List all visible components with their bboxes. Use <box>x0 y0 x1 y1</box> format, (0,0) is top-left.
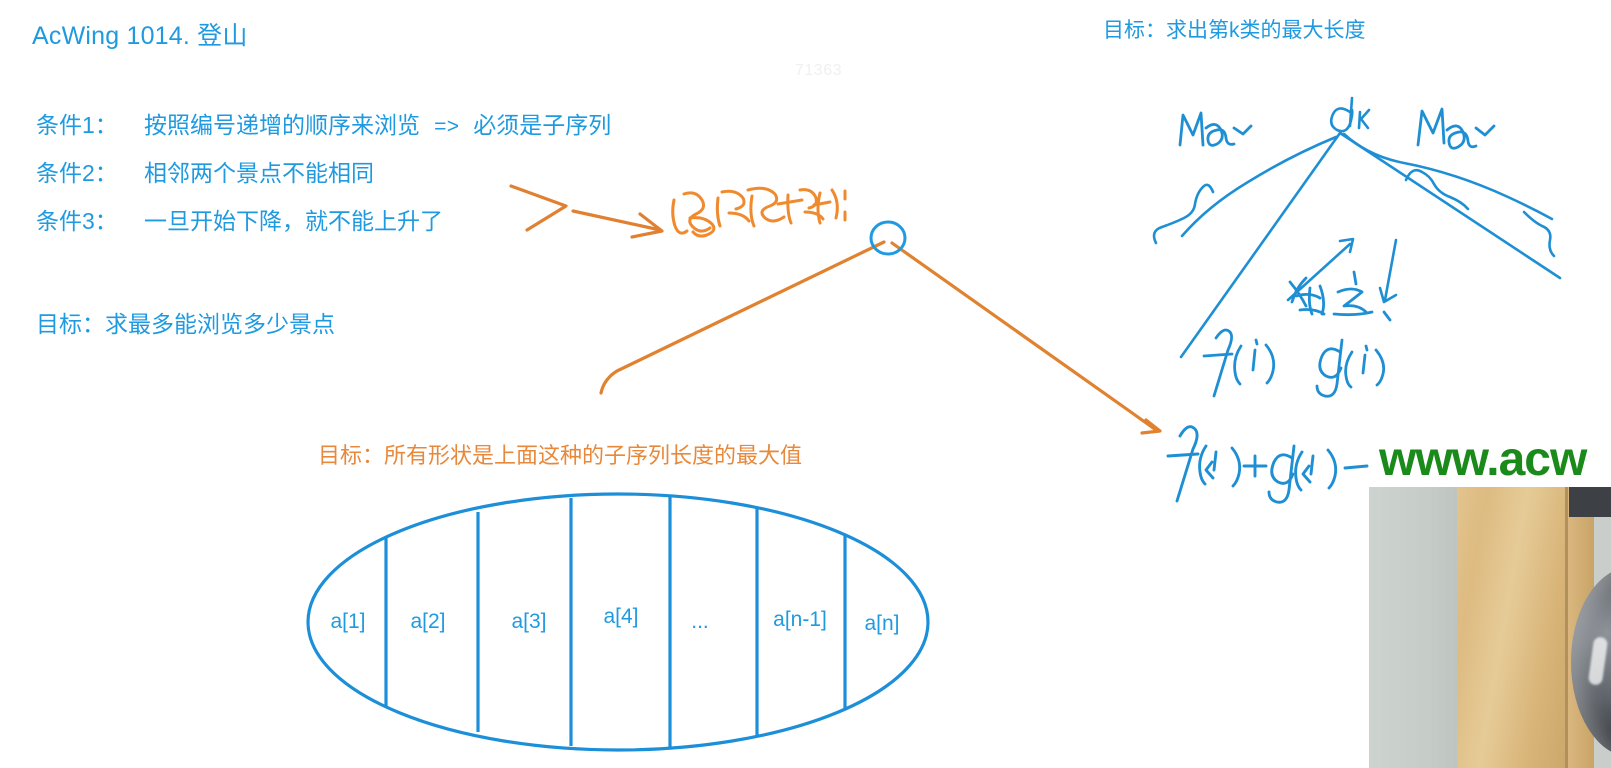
formula-handwriting <box>1168 427 1367 503</box>
downward-arrows <box>1288 239 1396 302</box>
goal-orange-label: 目标：所有形状是上面这种的子序列长度的最大值 <box>318 438 802 470</box>
condition-row-3: 条件3： 一旦开始下降，就不能上升了 <box>36 202 796 236</box>
goal-top-right-label: 目标：求出第k类的最大长度 <box>1103 14 1366 44</box>
array-cell-label: a[n] <box>864 612 899 636</box>
max-left-handwriting <box>1180 113 1251 145</box>
max-right-handwriting <box>1418 109 1494 148</box>
condition-consequence: 必须是子序列 <box>473 106 611 140</box>
array-cell-label: a[2] <box>410 610 445 634</box>
array-cell-ellipsis: ... <box>691 610 709 634</box>
array-cell-label: a[3] <box>511 610 546 634</box>
webcam-dark-region <box>1569 487 1611 517</box>
goal-main-label: 目标：求最多能浏览多少景点 <box>36 305 335 339</box>
array-cell-label: a[4] <box>603 605 638 629</box>
condition-text: 相邻两个景点不能相同 <box>144 154 374 188</box>
condition-label: 条件1： <box>36 106 144 140</box>
peak-circle-marker <box>871 222 905 254</box>
conditions-list: 条件1： 按照编号递增的顺序来浏览 => 必须是子序列 条件2： 相邻两个景点不… <box>36 106 796 250</box>
array-cell-label: a[1] <box>330 610 365 634</box>
webcam-wall-background <box>1369 487 1465 768</box>
acwing-watermark: www.acw <box>1379 432 1586 487</box>
orange-mountain-shape <box>601 242 1160 433</box>
webcam-video-overlay[interactable] <box>1369 487 1611 768</box>
condition-label: 条件2： <box>36 154 144 188</box>
condition-label: 条件3： <box>36 202 144 236</box>
condition-row-2: 条件2： 相邻两个景点不能相同 <box>36 154 796 188</box>
function-f-handwriting <box>1204 330 1274 396</box>
right-brace <box>1406 170 1554 256</box>
watermark-number: 71363 <box>795 62 842 80</box>
handdrawn-mountain-outline <box>1181 133 1560 357</box>
middle-note-handwriting <box>1290 272 1390 320</box>
condition-text: 按照编号递增的顺序来浏览 <box>144 106 420 140</box>
implies-arrow: => <box>434 117 459 140</box>
array-cell-label: a[n-1] <box>773 608 827 632</box>
function-g-handwriting <box>1317 340 1384 396</box>
webcam-wooden-door <box>1457 487 1577 768</box>
page-title: AcWing 1014. 登山 <box>32 16 248 52</box>
condition-row-1: 条件1： 按照编号递增的顺序来浏览 => 必须是子序列 <box>36 106 796 140</box>
condition-text: 一旦开始下降，就不能上升了 <box>144 202 443 236</box>
left-brace <box>1154 185 1213 243</box>
ak-peak-label-handwriting <box>1331 98 1369 131</box>
